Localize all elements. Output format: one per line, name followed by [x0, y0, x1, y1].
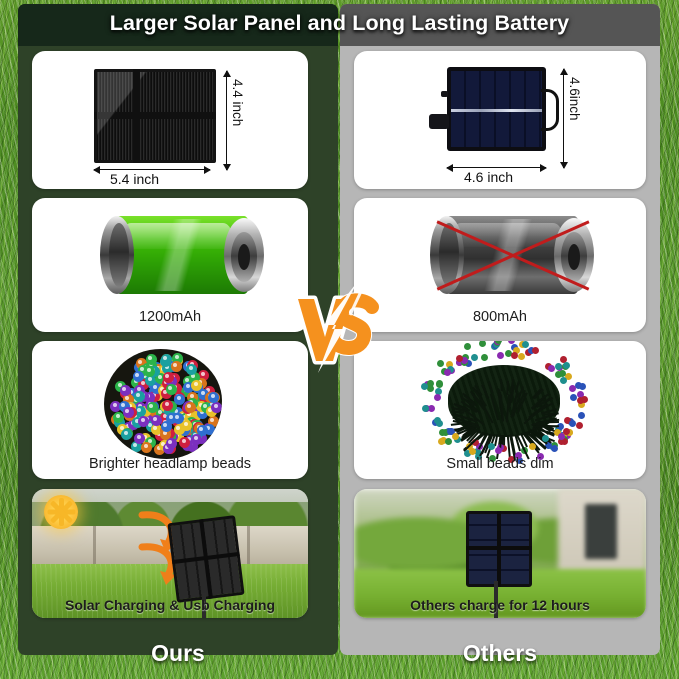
- battery-others-image: [430, 216, 594, 294]
- light-tip: [579, 383, 586, 390]
- light-tip: [456, 355, 463, 362]
- light-tip: [558, 433, 565, 440]
- page-title: Larger Solar Panel and Long Lasting Batt…: [0, 4, 679, 42]
- card-ours-battery: 1200mAh: [32, 198, 308, 332]
- light-tip: [555, 363, 562, 370]
- panel-shine: [97, 72, 213, 160]
- light-tip: [548, 365, 555, 372]
- led-bead: [146, 354, 157, 365]
- width-arrow-ours: [94, 169, 210, 170]
- bead-cluster: [104, 349, 222, 459]
- panel-handle: [541, 89, 559, 131]
- light-tip: [508, 341, 515, 344]
- solar-width-label-ours: 5.4 inch: [110, 171, 159, 187]
- solar-height-label-others: 4.6inch: [567, 77, 582, 121]
- light-tip: [529, 443, 536, 450]
- battery-gloss: [122, 223, 232, 249]
- solar-height-label-ours: 4.4 inch: [230, 79, 245, 126]
- light-tip: [464, 343, 471, 350]
- light-tip: [569, 420, 576, 427]
- light-tip: [437, 360, 444, 367]
- light-tip: [569, 385, 576, 392]
- light-tip: [511, 352, 518, 359]
- solar-panel-others-image: [447, 67, 546, 151]
- solar-panel-photo-others: [466, 511, 532, 587]
- led-bead: [173, 413, 184, 424]
- height-arrow-ours: [226, 71, 227, 170]
- panel-busbar: [451, 109, 542, 112]
- charging-caption-others: Others charge for 12 hours: [354, 597, 646, 613]
- battery-cap-left: [100, 216, 134, 294]
- beads-caption-others: Small beads dim: [354, 456, 646, 472]
- others-label: Others: [340, 636, 660, 670]
- card-ours-beads: Brighter headlamp beads: [32, 341, 308, 479]
- led-bead: [171, 361, 182, 372]
- led-bead: [151, 415, 162, 426]
- light-tip: [570, 394, 577, 401]
- width-arrow-others: [447, 167, 546, 168]
- lamp-beads-ours-image: [104, 349, 222, 459]
- card-others-solar-panel: 4.6 inch 4.6inch: [354, 51, 646, 189]
- card-ours-solar-panel: 5.4 inch 4.4 inch: [32, 51, 308, 189]
- panel-port: [429, 114, 449, 129]
- solar-panel-photo-ours: [167, 515, 244, 603]
- vs-badge: [292, 281, 384, 373]
- photo-door: [585, 504, 617, 558]
- battery-ours-image: [100, 216, 264, 294]
- light-tip: [436, 420, 443, 427]
- battery-capacity-ours: 1200mAh: [32, 309, 308, 325]
- card-others-battery: 800mAh: [354, 198, 646, 332]
- led-bead: [147, 402, 158, 413]
- light-tip: [445, 438, 452, 445]
- led-bead: [121, 429, 132, 440]
- led-bead: [134, 391, 145, 402]
- led-bead: [120, 385, 131, 396]
- led-bead: [134, 433, 145, 444]
- led-bead: [123, 407, 134, 418]
- light-tip: [551, 445, 558, 452]
- led-bead: [163, 372, 174, 383]
- beads-caption-ours: Brighter headlamp beads: [32, 456, 308, 472]
- battery-cap-right: [224, 218, 264, 292]
- led-bead: [133, 371, 144, 382]
- light-tip: [577, 397, 584, 404]
- light-tip: [481, 354, 488, 361]
- light-tip: [427, 385, 434, 392]
- card-others-charging: Others charge for 12 hours: [354, 489, 646, 618]
- light-tip: [576, 422, 583, 429]
- light-tip: [436, 380, 443, 387]
- light-tip: [563, 362, 570, 369]
- light-tip: [434, 394, 441, 401]
- charging-caption-ours: Solar Charging & Usb Charging: [32, 597, 308, 613]
- card-ours-charging: Solar Charging & Usb Charging: [32, 489, 308, 618]
- infographic-canvas: Larger Solar Panel and Long Lasting Batt…: [0, 0, 679, 679]
- ours-label: Ours: [18, 636, 338, 670]
- solar-panel-ours-image: [94, 69, 216, 163]
- light-tip: [532, 347, 539, 354]
- light-tip: [560, 377, 567, 384]
- light-tip: [495, 341, 502, 344]
- sun-icon: [44, 495, 78, 529]
- led-bead: [141, 442, 152, 453]
- light-tip: [471, 354, 478, 361]
- red-cross-out-icon: [436, 218, 588, 292]
- led-bead: [161, 354, 172, 365]
- led-bead: [166, 384, 177, 395]
- panel-nub: [441, 91, 448, 97]
- solar-width-label-others: 4.6 inch: [464, 169, 513, 185]
- led-bead: [185, 402, 196, 413]
- height-arrow-others: [563, 69, 564, 168]
- card-others-beads: Small beads dim: [354, 341, 646, 479]
- battery-capacity-others: 800mAh: [354, 309, 646, 325]
- lamp-beads-others-image: [438, 347, 570, 449]
- light-tip: [518, 353, 525, 360]
- light-tip: [578, 412, 585, 419]
- light-tip: [497, 352, 504, 359]
- light-tip: [444, 369, 451, 376]
- led-bead: [211, 402, 222, 413]
- light-tip: [479, 341, 486, 347]
- led-bead: [208, 392, 219, 403]
- light-tip: [495, 447, 502, 454]
